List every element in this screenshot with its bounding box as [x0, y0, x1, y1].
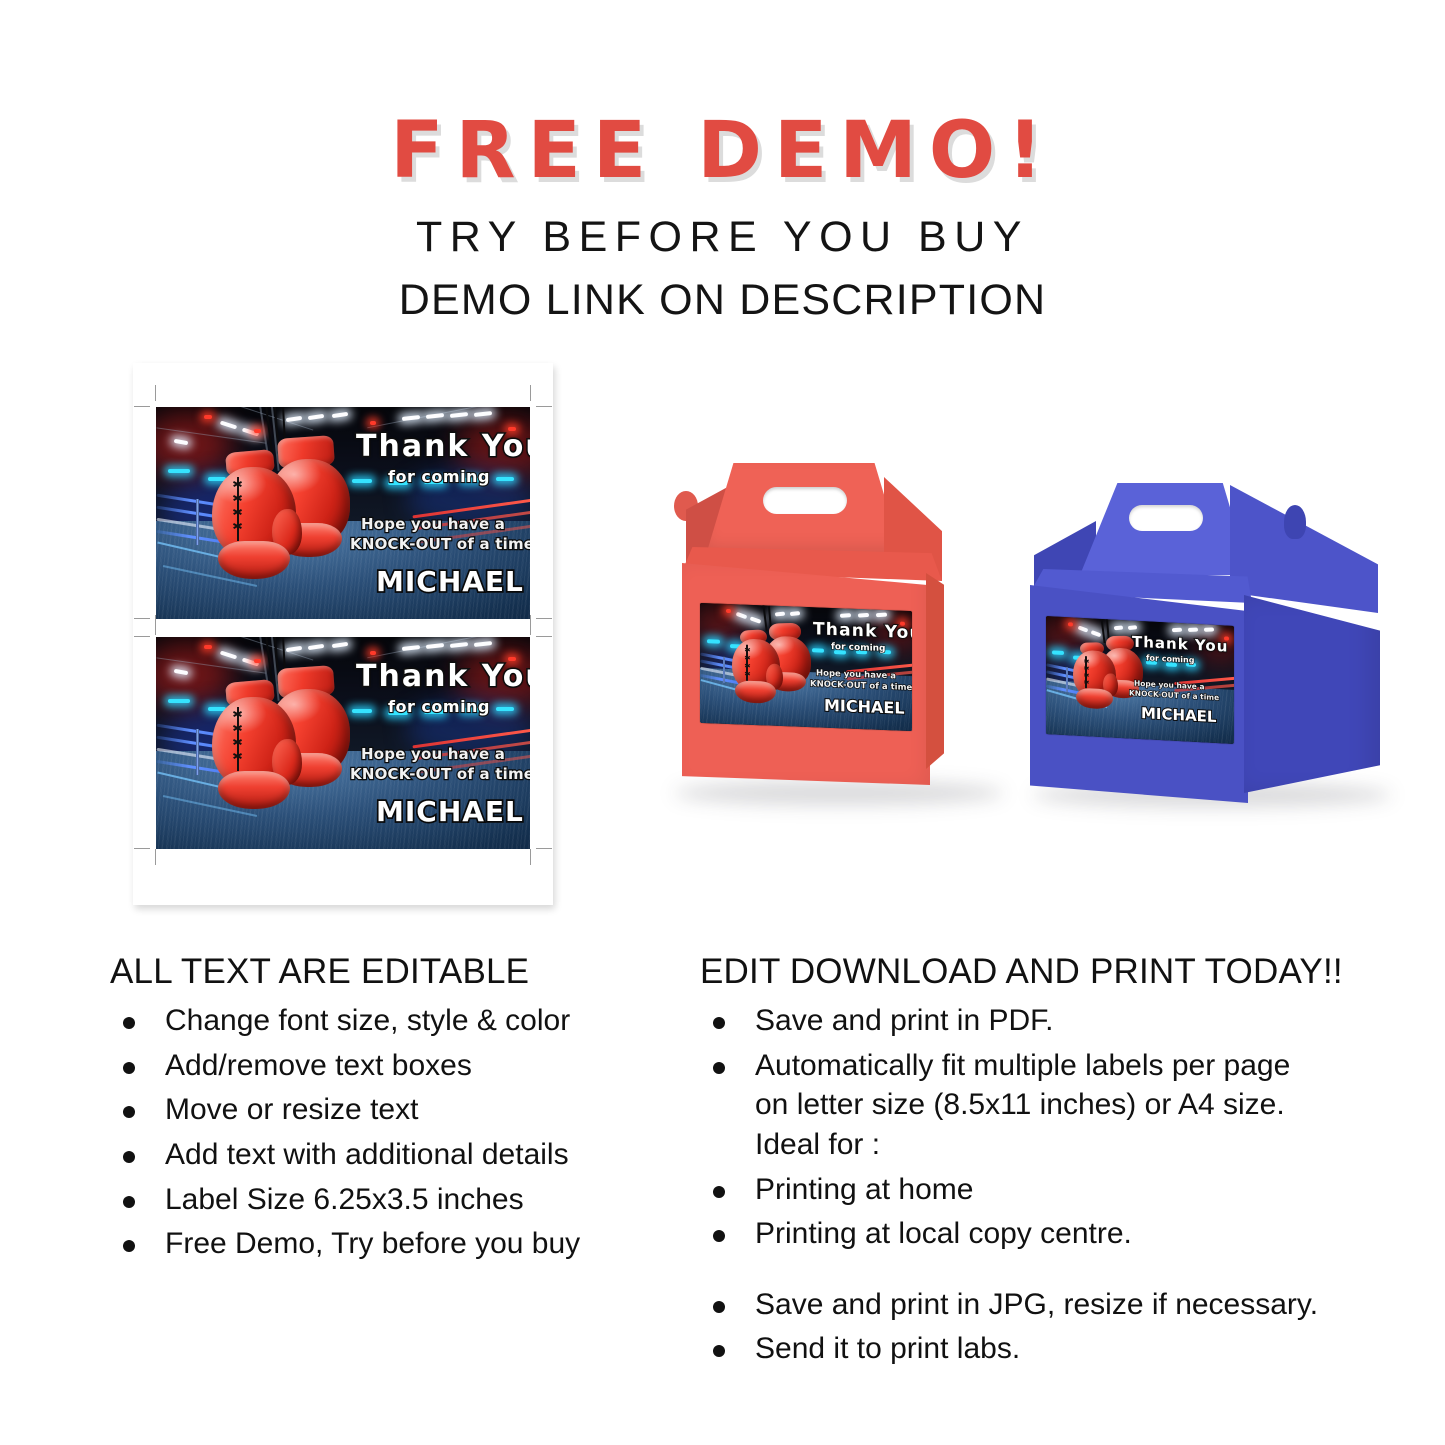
- list-item: Add/remove text boxes: [110, 1046, 670, 1086]
- bullet-icon: [123, 1240, 135, 1252]
- list-item: Automatically fit multiple labels per pa…: [700, 1046, 1360, 1165]
- label-artwork: Thank You for coming Hope you have a KNO…: [156, 407, 530, 619]
- red-gable-box: Thank You for coming Hope you have a KNO…: [668, 455, 1008, 815]
- blue-box-label: Thank You for coming Hope you have a KNO…: [1046, 616, 1234, 744]
- bullet-icon: [123, 1196, 135, 1208]
- bullet-icon: [123, 1017, 135, 1029]
- list-item-label: Send it to print labs.: [755, 1332, 1020, 1365]
- left-column-heading: ALL TEXT ARE EDITABLE: [110, 952, 670, 992]
- label-hope-line-1: Hope you have a: [361, 515, 505, 533]
- box-label-name: MICHAEL: [824, 696, 905, 718]
- bullet-icon: [123, 1062, 135, 1074]
- list-item: Free Demo, Try before you buy: [110, 1224, 670, 1264]
- red-box-side-panel: [926, 573, 944, 769]
- right-column-heading: EDIT DOWNLOAD AND PRINT TODAY!!: [700, 952, 1360, 992]
- bullet-icon: [713, 1345, 725, 1357]
- red-box-label: Thank You for coming Hope you have a KNO…: [700, 603, 912, 731]
- label-preview-1: Thank You for coming Hope you have a KNO…: [156, 407, 530, 619]
- list-item: Change font size, style & color: [110, 1001, 670, 1041]
- list-item-label: Label Size 6.25x3.5 inches: [165, 1183, 524, 1216]
- blue-gable-box: Thank You for coming Hope you have a KNO…: [1022, 463, 1422, 823]
- list-item: Add text with additional details: [110, 1135, 670, 1175]
- gable-box-mockups: Thank You for coming Hope you have a KNO…: [650, 455, 1430, 855]
- bullet-icon: [713, 1017, 725, 1029]
- tagline-try-before-you-buy: TRY BEFORE YOU BUY: [0, 216, 1445, 259]
- bullet-icon: [713, 1230, 725, 1242]
- list-item: Save and print in JPG, resize if necessa…: [700, 1285, 1360, 1325]
- blue-box-roof-tab: [1284, 505, 1306, 539]
- list-item-label-line3: Ideal for :: [755, 1125, 1360, 1165]
- blue-box-side-panel: [1244, 595, 1380, 793]
- bullet-icon: [713, 1062, 725, 1074]
- list-item: Move or resize text: [110, 1090, 670, 1130]
- list-item-label: Save and print in JPG, resize if necessa…: [755, 1288, 1318, 1321]
- list-item-label: Add/remove text boxes: [165, 1049, 472, 1082]
- box-label-for-coming: for coming: [831, 642, 886, 654]
- label-for-coming: for coming: [388, 697, 490, 716]
- list-item-label: Move or resize text: [165, 1093, 418, 1126]
- red-box-handle-cutout: [763, 487, 847, 514]
- blue-box-handle-cutout: [1129, 505, 1203, 531]
- label-thank-you: Thank You: [356, 429, 530, 464]
- tagline-demo-link: DEMO LINK ON DESCRIPTION: [0, 279, 1445, 322]
- list-item-label: Save and print in PDF.: [755, 1004, 1054, 1037]
- list-item-label: Printing at home: [755, 1173, 973, 1206]
- list-item-label: Printing at local copy centre.: [755, 1217, 1132, 1250]
- box-label-thank-you: Thank You: [813, 619, 912, 643]
- left-feature-list: Change font size, style & color Add/remo…: [110, 1001, 670, 1264]
- right-feature-list: Save and print in PDF. Automatically fit…: [700, 1001, 1360, 1369]
- features-column-right: EDIT DOWNLOAD AND PRINT TODAY!! Save and…: [700, 952, 1360, 1374]
- list-item-label: Automatically fit multiple labels per pa…: [755, 1046, 1360, 1086]
- label-artwork: Thank You for coming Hope you have a KNO…: [156, 637, 530, 849]
- list-spacer: [700, 1259, 1360, 1285]
- label-hope-line-2: KNOCK-OUT of a time: [350, 535, 530, 553]
- bullet-icon: [713, 1301, 725, 1313]
- features-column-left: ALL TEXT ARE EDITABLE Change font size, …: [110, 952, 670, 1269]
- label-hope-line-1: Hope you have a: [361, 745, 505, 763]
- label-thank-you: Thank You: [356, 659, 530, 694]
- print-sheet-preview: Thank You for coming Hope you have a KNO…: [133, 363, 553, 905]
- bullet-icon: [123, 1106, 135, 1118]
- list-item: Send it to print labs.: [700, 1329, 1360, 1369]
- header: FREE DEMO! TRY BEFORE YOU BUY DEMO LINK …: [0, 0, 1445, 322]
- list-item: Label Size 6.25x3.5 inches: [110, 1180, 670, 1220]
- list-item-label: Add text with additional details: [165, 1138, 569, 1171]
- list-item-label: Change font size, style & color: [165, 1004, 570, 1037]
- label-child-name: MICHAEL: [376, 565, 524, 598]
- list-item: Printing at home: [700, 1170, 1360, 1210]
- label-hope-line-2: KNOCK-OUT of a time: [350, 765, 530, 783]
- label-for-coming: for coming: [388, 467, 490, 486]
- bullet-icon: [713, 1186, 725, 1198]
- blue-box-roof-right: [1230, 485, 1378, 613]
- list-item-label-line2: on letter size (8.5x11 inches) or A4 siz…: [755, 1085, 1360, 1125]
- label-preview-2: Thank You for coming Hope you have a KNO…: [156, 637, 530, 849]
- page-title: FREE DEMO!: [0, 112, 1445, 190]
- label-child-name: MICHAEL: [376, 795, 524, 828]
- list-item: Printing at local copy centre.: [700, 1214, 1360, 1254]
- list-item-label: Free Demo, Try before you buy: [165, 1227, 580, 1260]
- bullet-icon: [123, 1151, 135, 1163]
- list-item: Save and print in PDF.: [700, 1001, 1360, 1041]
